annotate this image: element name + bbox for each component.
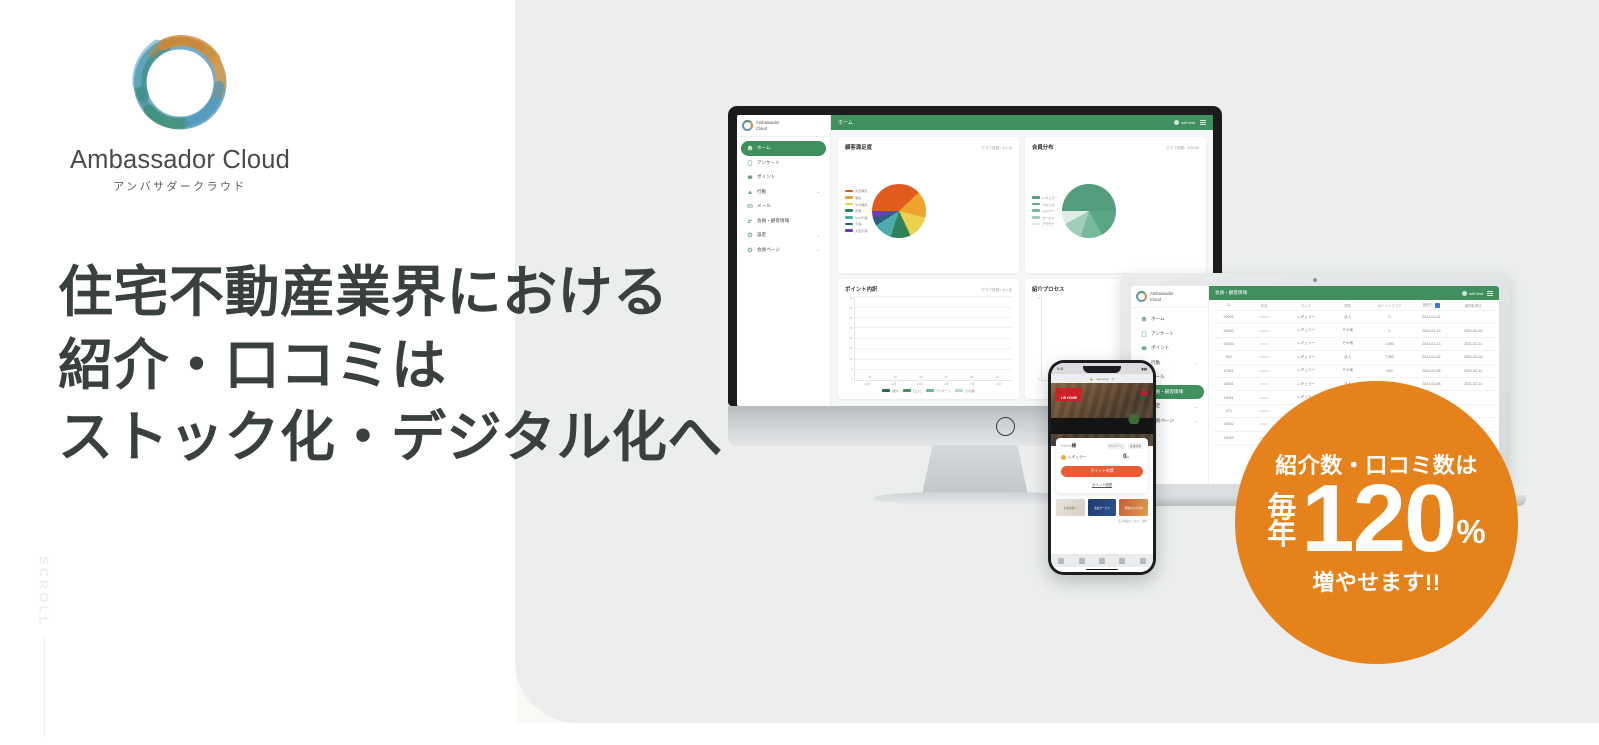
share-icon[interactable] bbox=[1099, 558, 1105, 564]
brush-circle-logo-icon bbox=[56, 24, 304, 142]
table-row[interactable]: 00001○○○○レギュラー法人02021-01-01 bbox=[1214, 311, 1494, 324]
plant-decor bbox=[1127, 412, 1141, 424]
legend-item: やや不満 bbox=[845, 215, 867, 220]
bar-value-label: 18 bbox=[867, 376, 874, 379]
home-icon bbox=[1141, 316, 1147, 322]
site-logo[interactable]: LIB HOME bbox=[1056, 388, 1082, 401]
legend-item: 満足 bbox=[845, 195, 867, 200]
chart-icon bbox=[747, 189, 753, 195]
card-title: 会員分布 bbox=[1032, 143, 1054, 151]
legend-label: 普通 bbox=[855, 208, 861, 213]
table-column-header[interactable]: 属性 bbox=[1327, 303, 1369, 308]
legend-swatch bbox=[1032, 203, 1040, 206]
table-row[interactable]: 00003○○○○レギュラーその他1,0002021-01-132021-02-… bbox=[1214, 338, 1494, 351]
sidebar-item-label: ホーム bbox=[1151, 316, 1165, 322]
table-cell: その他 bbox=[1327, 368, 1369, 373]
bookmarks-icon[interactable] bbox=[1119, 558, 1125, 564]
clipboard-icon bbox=[747, 160, 753, 166]
legend-label: プラチナ bbox=[1042, 221, 1054, 226]
back-icon[interactable] bbox=[1058, 558, 1064, 564]
headline-line-3: ストック化・デジタル化へ bbox=[58, 401, 723, 474]
chevron-down-icon[interactable]: ⌄ bbox=[1195, 360, 1198, 365]
legend-swatch bbox=[1032, 196, 1040, 199]
table-column-header[interactable]: ポイントスコア bbox=[1369, 303, 1411, 308]
card-title: ポイント内訳 bbox=[845, 285, 877, 293]
banner-row: お友達紹介 会員サービス 季節のおすすめ bbox=[1051, 493, 1153, 516]
hamburger-icon[interactable] bbox=[1487, 291, 1493, 296]
card-member-distribution: 会員分布 グラフ詳細：2021年 レギュラーブロンズシルバーゴールドプラチナ bbox=[1025, 137, 1206, 273]
table-cell: ○○○○ bbox=[1243, 355, 1285, 359]
url-text: test.ac.jp bbox=[1097, 377, 1109, 381]
table-cell: ○○○○ bbox=[1243, 369, 1285, 373]
user-name: self test bbox=[1181, 120, 1195, 125]
x-tick: 1月 bbox=[943, 382, 950, 386]
table-cell: 7,500 bbox=[1369, 355, 1411, 359]
page-title: 住宅不動産業界における 紹介・口コミは ストック化・デジタル化へ bbox=[58, 256, 723, 474]
table-cell: 304 bbox=[1214, 355, 1243, 359]
phone-hero-image: LIB HOME bbox=[1051, 383, 1153, 446]
legend-item: 普通 bbox=[845, 208, 867, 213]
monitor-stand-neck bbox=[922, 445, 1028, 495]
legend-swatch bbox=[1032, 209, 1040, 212]
table-cell: 2021-02-14 bbox=[1452, 382, 1494, 386]
sidebar-item-points[interactable]: ポイント bbox=[741, 170, 826, 185]
badge-percent: % bbox=[1456, 513, 1485, 551]
table-cell: レギュラー bbox=[1285, 328, 1327, 333]
legend-label: 満足 bbox=[855, 195, 861, 200]
member-summary-card: ○○○○様 マイページ 会員情報 レギュラー 0pt ポイント申請 bbox=[1056, 438, 1148, 493]
table-cell: ○○○○ bbox=[1243, 329, 1285, 333]
growth-badge: 紹介数・口コミ数は 毎年 120 % 増やせます!! bbox=[1235, 381, 1518, 664]
scroll-indicator[interactable]: SCROLL bbox=[24, 556, 64, 741]
badge-main-row: 毎年 120 % bbox=[1267, 478, 1486, 561]
reload-icon[interactable]: ⟳ bbox=[1112, 377, 1115, 381]
card-header: ポイント内訳 グラフ詳細：6ヶ月 bbox=[845, 285, 1012, 293]
sidebar-item-customers[interactable]: 会員・顧客情報 bbox=[741, 214, 826, 229]
table-cell: 0 bbox=[1369, 315, 1411, 319]
brand-name: Ambassador Cloud bbox=[56, 146, 304, 175]
card-meta[interactable]: グラフ詳細：6ヶ月 bbox=[981, 288, 1012, 293]
table-column-header[interactable]: 登録日 bbox=[1410, 302, 1452, 308]
table-column-header[interactable]: ランク bbox=[1285, 303, 1327, 308]
legend-label: やや満足 bbox=[855, 202, 867, 207]
phone-notch bbox=[1083, 366, 1121, 373]
table-cell: 2021-01-13 bbox=[1410, 342, 1452, 346]
y-tick: 5 bbox=[851, 368, 852, 371]
legend-item: アンケート bbox=[926, 388, 951, 393]
table-cell: レギュラー bbox=[1285, 315, 1327, 320]
card-header: 会員分布 グラフ詳細：2021年 bbox=[1032, 143, 1199, 151]
bar-value-label: 37 bbox=[943, 376, 950, 379]
card-title: 紹介プロセス bbox=[1032, 285, 1064, 293]
pie-chart-members bbox=[1062, 184, 1116, 238]
browser-url-bar[interactable]: 🔒 test.ac.jp ⟳ bbox=[1051, 374, 1153, 383]
legend-item: プラチナ bbox=[1032, 221, 1057, 226]
table-cell: 0 bbox=[1369, 329, 1411, 333]
sidebar-item-label: 行動 bbox=[757, 189, 766, 195]
legend-swatch bbox=[1032, 216, 1040, 219]
legend-label: ゴールド bbox=[1042, 215, 1054, 220]
chevron-down-icon[interactable]: ⌄ bbox=[817, 233, 820, 238]
sidebar-brand: Ambassador Cloud bbox=[756, 120, 822, 131]
browser-tab-bar bbox=[1051, 554, 1153, 567]
legend-label: 口コミ bbox=[913, 388, 922, 393]
brush-circle-logo-icon bbox=[742, 120, 753, 131]
member-card-links: マイページ 会員情報 bbox=[1107, 443, 1143, 449]
sidebar-item-label: メール bbox=[757, 203, 771, 209]
table-cell: 法人 bbox=[1327, 315, 1369, 320]
legend-label: 大変不満 bbox=[855, 228, 867, 233]
y-tick: 10 bbox=[850, 358, 853, 361]
sidebar-nav: ホーム アンケート ポイント bbox=[737, 137, 830, 257]
sidebar-brand-line2: Cloud bbox=[756, 126, 767, 131]
sidebar-item-member-page[interactable]: 会員ページ ⌄ bbox=[741, 243, 826, 258]
badge-bottom-text: 増やせます!! bbox=[1312, 565, 1440, 597]
banner-note: 広告掲載をしないご案内 bbox=[1051, 516, 1153, 523]
legend-item: 口コミ bbox=[903, 388, 922, 393]
table-cell: 2021-01-01 bbox=[1410, 315, 1452, 319]
hamburger-icon[interactable] bbox=[1200, 120, 1206, 125]
table-cell: ○○○○ bbox=[1243, 382, 1285, 386]
legend-swatch bbox=[882, 389, 890, 392]
y-tick: 0 bbox=[851, 378, 852, 381]
table-cell: 00002 bbox=[1214, 329, 1243, 333]
phone-frame: 9:41 ▮▮▮ 🔒 test.ac.jp ⟳ LIB HOME bbox=[1048, 360, 1156, 575]
legend-swatch bbox=[845, 223, 853, 226]
bar-value-label: 14 bbox=[994, 376, 1001, 379]
member-info-link[interactable]: 会員情報 bbox=[1128, 443, 1143, 449]
sidebar-item-settings[interactable]: 設定 ⌄ bbox=[741, 228, 826, 243]
card-body: レギュラーブロンズシルバーゴールドプラチナ bbox=[1032, 155, 1199, 267]
legend-label: 大変満足 bbox=[855, 188, 867, 193]
table-column-header[interactable]: 最終取得日 bbox=[1452, 303, 1494, 308]
table-column-header[interactable]: 氏名 bbox=[1243, 303, 1285, 308]
sidebar-item-home[interactable]: ホーム bbox=[1135, 312, 1204, 327]
table-cell: 2021-01-05 bbox=[1410, 369, 1452, 373]
table-cell: ○○○○ bbox=[1243, 342, 1285, 346]
x-tick: 2月 bbox=[969, 382, 976, 386]
table-cell: 00001 bbox=[1214, 315, 1243, 319]
banner-item[interactable]: 季節のおすすめ bbox=[1119, 499, 1148, 516]
legend-item: 不満 bbox=[845, 221, 867, 226]
sort-indicator-icon[interactable] bbox=[1435, 303, 1440, 308]
chevron-down-icon[interactable]: ⌄ bbox=[1195, 404, 1198, 409]
chevron-down-icon[interactable]: ⌄ bbox=[1195, 418, 1198, 423]
banner-item[interactable]: お友達紹介 bbox=[1056, 499, 1085, 516]
user-name: self test bbox=[1469, 291, 1483, 296]
chevron-left-icon[interactable]: ‹ bbox=[1202, 294, 1204, 299]
table-cell: レギュラー bbox=[1285, 355, 1327, 360]
gear-icon bbox=[747, 232, 753, 238]
y-tick: 30 bbox=[850, 317, 853, 320]
table-cell: 19003 bbox=[1214, 436, 1243, 440]
sidebar-header: Ambassador Cloud chevron-left-icon bbox=[737, 115, 830, 137]
member-rank: レギュラー bbox=[1061, 455, 1086, 460]
brand-kana: アンバサダークラウド bbox=[56, 178, 304, 194]
headline-line-1: 住宅不動産業界における bbox=[58, 256, 723, 329]
sidebar-brand-line2: Cloud bbox=[1150, 297, 1161, 302]
sidebar-item-label: 会員・顧客情報 bbox=[757, 218, 789, 224]
sidebar-brand-line1: Ambassador bbox=[756, 120, 780, 125]
legend-label: 不満 bbox=[855, 221, 861, 226]
card-header: 顧客満足度 グラフ詳細：6ヶ月 bbox=[845, 143, 1012, 151]
phone-screen: 9:41 ▮▮▮ 🔒 test.ac.jp ⟳ LIB HOME bbox=[1051, 363, 1153, 572]
table-cell: その他 bbox=[1327, 328, 1369, 333]
y-tick: 5 bbox=[1038, 297, 1039, 300]
card-meta[interactable]: グラフ詳細：6ヶ月 bbox=[981, 146, 1012, 151]
chart-legend: 大変満足満足やや満足普通やや不満不満大変不満 bbox=[845, 188, 867, 233]
table-cell: 1,000 bbox=[1369, 342, 1411, 346]
tabs-icon[interactable] bbox=[1140, 558, 1146, 564]
headline-line-2: 紹介・口コミは bbox=[58, 329, 723, 402]
table-cell: 19001 bbox=[1214, 396, 1243, 400]
brand-logo[interactable]: Ambassador Cloud アンバサダークラウド bbox=[56, 24, 304, 194]
dashboard-sidebar: Ambassador Cloud chevron-left-icon ホーム bbox=[737, 115, 831, 406]
wallet-icon bbox=[1141, 345, 1147, 351]
medal-icon bbox=[1061, 455, 1066, 460]
sidebar-item-points[interactable]: ポイント bbox=[1135, 341, 1204, 356]
legend-label: レギュラー bbox=[1042, 195, 1057, 200]
sidebar-item-label: ポイント bbox=[757, 174, 775, 180]
table-cell: 2021-01-13 bbox=[1410, 329, 1452, 333]
gear-icon bbox=[747, 247, 753, 253]
breadcrumb: ホーム bbox=[838, 119, 853, 126]
y-axis: 50 bbox=[1032, 297, 1041, 382]
y-tick: 0 bbox=[1038, 378, 1039, 381]
legend-label: シルバー bbox=[1042, 208, 1054, 213]
legend-item: その他 bbox=[955, 388, 974, 393]
sidebar-item-label: アンケート bbox=[757, 160, 780, 166]
table-cell: 法人 bbox=[1327, 355, 1369, 360]
table-cell: ○○○○ bbox=[1243, 396, 1285, 400]
member-card-header: ○○○○様 マイページ 会員情報 bbox=[1061, 443, 1143, 449]
table-header-row: ID氏名ランク属性ポイントスコア登録日最終取得日 bbox=[1214, 300, 1494, 311]
card-meta[interactable]: グラフ詳細：2021年 bbox=[1166, 146, 1199, 151]
clipboard-icon bbox=[1141, 331, 1147, 337]
legend-swatch bbox=[845, 190, 853, 193]
y-tick: 20 bbox=[850, 337, 853, 340]
sidebar-item-behavior[interactable]: 行動 ⌄ bbox=[741, 185, 826, 200]
legend-swatch bbox=[845, 229, 853, 232]
sidebar-brand: Ambassador Cloud bbox=[1150, 291, 1199, 302]
card-title: 顧客満足度 bbox=[845, 143, 872, 151]
breadcrumb: 会員・顧客情報 bbox=[1215, 290, 1247, 296]
chevron-down-icon[interactable]: ⌄ bbox=[817, 189, 820, 194]
brush-circle-logo-icon bbox=[1136, 291, 1147, 302]
legend-item: 大変不満 bbox=[845, 228, 867, 233]
point-history-link[interactable]: ポイント履歴 bbox=[1061, 482, 1143, 487]
legend-item: 紹介 bbox=[882, 388, 898, 393]
sidebar-item-survey[interactable]: アンケート bbox=[741, 156, 826, 171]
y-tick: 35 bbox=[850, 307, 853, 310]
table-cell: 2021-01-08 bbox=[1410, 382, 1452, 386]
legend-label: ブロンズ bbox=[1042, 202, 1054, 207]
avatar bbox=[1462, 291, 1467, 296]
y-tick: 15 bbox=[850, 347, 853, 350]
legend-swatch bbox=[926, 389, 934, 392]
legend-label: その他 bbox=[965, 388, 974, 393]
status-icons: ▮▮▮ bbox=[1141, 367, 1147, 371]
legend-swatch bbox=[845, 203, 853, 206]
table-cell: レギュラー bbox=[1285, 368, 1327, 373]
legend-swatch bbox=[845, 196, 853, 199]
webcam-icon bbox=[1313, 278, 1317, 282]
home-icon bbox=[747, 145, 753, 151]
table-row[interactable]: 17001○○○○レギュラーその他5002021-01-052021-02-11 bbox=[1214, 365, 1494, 378]
table-cell: 17001 bbox=[1214, 369, 1243, 373]
card-point-breakdown: ポイント内訳 グラフ詳細：6ヶ月 40353025201510501810293… bbox=[838, 279, 1019, 400]
table-cell: 2021-02-03 bbox=[1452, 355, 1494, 359]
plot-area: 181029371914 bbox=[854, 297, 1012, 382]
card-body: 大変満足満足やや満足普通やや不満不満大変不満 bbox=[845, 155, 1012, 267]
x-axis: 10月11月12月1月2月3月 bbox=[845, 382, 1012, 386]
x-tick: 10月 bbox=[864, 382, 871, 386]
mypage-link[interactable]: マイページ bbox=[1107, 443, 1125, 449]
dashboard-topbar: ホーム self test bbox=[831, 115, 1213, 130]
x-tick: 11月 bbox=[890, 382, 897, 386]
table-row[interactable]: 304○○○○レギュラー法人7,5002021-01-022021-02-03 bbox=[1214, 351, 1494, 364]
legend-swatch bbox=[845, 216, 853, 219]
point-request-button[interactable]: ポイント申請 bbox=[1061, 466, 1143, 477]
users-icon bbox=[747, 218, 753, 224]
member-rank-row: レギュラー 0pt bbox=[1061, 454, 1143, 460]
table-column-header[interactable]: ID bbox=[1214, 303, 1243, 307]
wallet-icon bbox=[747, 174, 753, 180]
legend-item: シルバー bbox=[1032, 208, 1057, 213]
x-tick: 12月 bbox=[917, 382, 924, 386]
pie-chart-satisfaction bbox=[872, 184, 926, 238]
bar-value-label: 29 bbox=[918, 376, 925, 379]
badge-every-year: 毎年 bbox=[1267, 495, 1296, 548]
monitor-logo-icon bbox=[996, 417, 1015, 436]
badge-number: 120 bbox=[1301, 478, 1455, 561]
legend-swatch bbox=[903, 389, 911, 392]
sidebar-item-survey[interactable]: アンケート bbox=[1135, 327, 1204, 342]
legend-item: ブロンズ bbox=[1032, 202, 1057, 207]
table-cell: 19002 bbox=[1214, 422, 1243, 426]
sidebar-item-label: ポイント bbox=[1151, 345, 1169, 351]
table-cell: 2021-02-03 bbox=[1452, 329, 1494, 333]
bar-chart-points: 403530252015105018102937191410月11月12月1月2… bbox=[845, 297, 1012, 394]
lock-icon: 🔒 bbox=[1090, 377, 1094, 381]
status-time: 9:41 bbox=[1057, 367, 1064, 371]
table-cell: その他 bbox=[1327, 341, 1369, 346]
legend-swatch bbox=[845, 209, 853, 212]
table-cell: 500 bbox=[1369, 369, 1411, 373]
card-satisfaction: 顧客満足度 グラフ詳細：6ヶ月 大変満足満足やや満足普通やや不満不満大変不満 bbox=[838, 137, 1019, 273]
hamburger-icon[interactable] bbox=[1141, 389, 1148, 395]
table-cell: 273 bbox=[1214, 409, 1243, 413]
table-cell: 2021-02-11 bbox=[1452, 369, 1494, 373]
forward-icon[interactable] bbox=[1079, 558, 1085, 564]
sidebar-item-mail[interactable]: メール bbox=[741, 199, 826, 214]
bar-value-label: 10 bbox=[892, 376, 899, 379]
sidebar-item-label: 会員ページ bbox=[757, 247, 780, 253]
table-cell: 2021-02-21 bbox=[1452, 342, 1494, 346]
sidebar-item-label: アンケート bbox=[1151, 331, 1174, 337]
mail-icon bbox=[747, 203, 753, 209]
x-tick: 3月 bbox=[996, 382, 1003, 386]
avatar bbox=[1174, 120, 1179, 125]
legend-label: アンケート bbox=[936, 388, 951, 393]
points-unit: pt bbox=[1126, 455, 1129, 459]
legend-item: 大変満足 bbox=[845, 188, 867, 193]
legend-item: やや満足 bbox=[845, 202, 867, 207]
table-cell: レギュラー bbox=[1285, 341, 1327, 346]
legend-label: 紹介 bbox=[892, 388, 898, 393]
phone-mockup: 9:41 ▮▮▮ 🔒 test.ac.jp ⟳ LIB HOME bbox=[1048, 360, 1156, 575]
table-cell: 18001 bbox=[1214, 382, 1243, 386]
chart-legend: レギュラーブロンズシルバーゴールドプラチナ bbox=[1032, 195, 1057, 226]
table-row[interactable]: 00002○○○○レギュラーその他02021-01-132021-02-03 bbox=[1214, 324, 1494, 337]
page-bottom-strip bbox=[0, 723, 1599, 745]
scroll-line bbox=[44, 637, 45, 737]
y-tick: 25 bbox=[850, 327, 853, 330]
home-indicator bbox=[1051, 567, 1153, 572]
member-name: ○○○○様 bbox=[1061, 443, 1076, 449]
user-menu[interactable]: self test bbox=[1174, 120, 1195, 125]
laptop-topbar: 会員・顧客情報 self test bbox=[1209, 286, 1499, 300]
sidebar-item-home[interactable]: ホーム bbox=[741, 141, 826, 156]
legend-label: やや不満 bbox=[855, 215, 867, 220]
chevron-down-icon[interactable]: ⌄ bbox=[817, 247, 820, 252]
table-cell: 2021-01-02 bbox=[1410, 355, 1452, 359]
bar-value-label: 19 bbox=[969, 376, 976, 379]
points-value: 0pt bbox=[1123, 454, 1129, 460]
sidebar-brand-line1: Ambassador bbox=[1150, 291, 1174, 296]
chart-legend: 紹介口コミアンケートその他 bbox=[845, 388, 1012, 393]
y-axis: 4035302520151050 bbox=[845, 297, 854, 382]
table-cell: ○○○○ bbox=[1243, 409, 1285, 413]
user-menu[interactable]: self test bbox=[1462, 291, 1483, 296]
table-cell: レギュラー bbox=[1285, 382, 1327, 387]
legend-swatch bbox=[1032, 223, 1040, 226]
legend-item: ゴールド bbox=[1032, 215, 1057, 220]
legend-swatch bbox=[955, 389, 963, 392]
legend-item: レギュラー bbox=[1032, 195, 1057, 200]
sidebar-item-label: ホーム bbox=[757, 145, 771, 151]
sidebar-header: Ambassador Cloud ‹ bbox=[1131, 286, 1208, 308]
banner-item[interactable]: 会員サービス bbox=[1088, 499, 1117, 516]
table-cell: ○○○○ bbox=[1243, 315, 1285, 319]
rank-label: レギュラー bbox=[1068, 455, 1086, 460]
y-tick: 40 bbox=[850, 297, 853, 300]
sidebar-item-label: 設定 bbox=[757, 232, 766, 238]
table-cell: 00003 bbox=[1214, 342, 1243, 346]
scroll-label: SCROLL bbox=[37, 556, 52, 627]
